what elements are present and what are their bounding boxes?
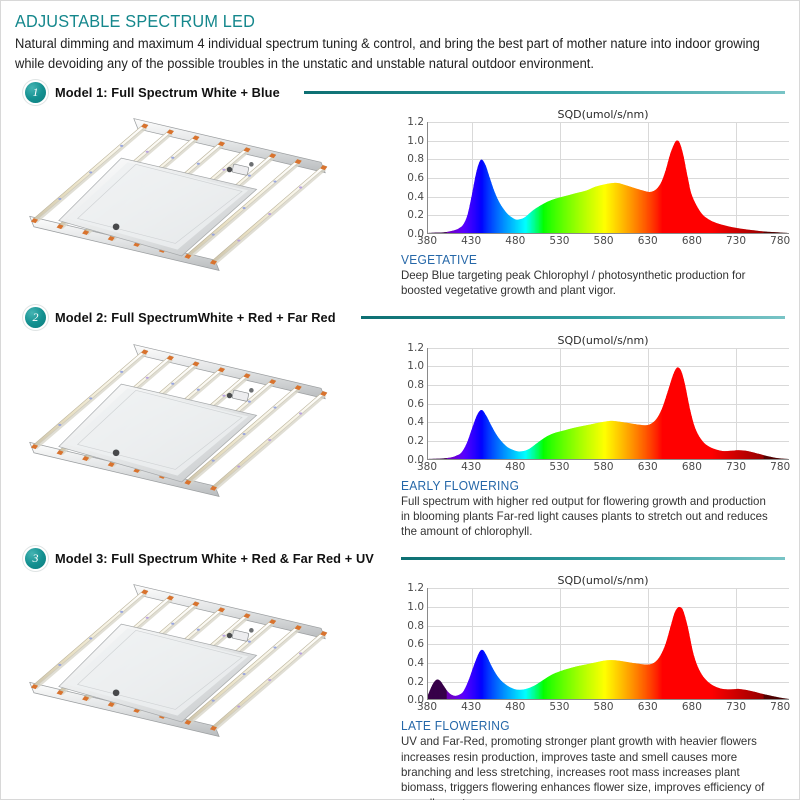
accent-rule	[361, 316, 785, 319]
model-body: SQD(umol/s/nm)0.00.20.40.60.81.01.238043…	[11, 104, 789, 299]
plot-area	[427, 122, 789, 234]
x-tick-label: 730	[726, 236, 746, 247]
y-tick-label: 0.8	[407, 621, 424, 632]
model-header: 1Model 1: Full Spectrum White + Blue	[11, 80, 789, 104]
x-tick-label: 780	[770, 236, 790, 247]
led-fixture-illustration	[11, 570, 396, 763]
x-tick-label: 380	[417, 236, 437, 247]
fixture-image	[11, 330, 396, 523]
y-tick-label: 0.6	[407, 173, 424, 184]
x-tick-label: 580	[594, 702, 614, 713]
y-tick-label: 1.0	[407, 602, 424, 613]
model-section-3: 3Model 3: Full Spectrum White + Red & Fa…	[11, 546, 789, 800]
x-tick-label: 530	[549, 236, 569, 247]
plot-row: 0.00.20.40.60.81.01.2	[399, 348, 789, 460]
x-tick-label: 430	[461, 236, 481, 247]
spectrum-curve	[428, 348, 789, 459]
led-fixture-illustration	[11, 330, 396, 523]
model-body: SQD(umol/s/nm)0.00.20.40.60.81.01.238043…	[11, 570, 789, 800]
y-tick-label: 0.2	[407, 210, 424, 221]
x-tick-label: 380	[417, 462, 437, 473]
y-tick-label: 0.2	[407, 677, 424, 688]
step-number: 3	[25, 548, 46, 569]
spectrum-chart-2: SQD(umol/s/nm)0.00.20.40.60.81.01.238043…	[396, 330, 789, 540]
chart-caption: VEGETATIVEDeep Blue targeting peak Chlor…	[399, 250, 789, 299]
y-tick-label: 0.4	[407, 658, 424, 669]
chart-caption: EARLY FLOWERINGFull spectrum with higher…	[399, 476, 789, 540]
spectrum-chart-1: SQD(umol/s/nm)0.00.20.40.60.81.01.238043…	[396, 104, 789, 299]
model-title: Model 1: Full Spectrum White + Blue	[55, 85, 280, 100]
caption-title: VEGETATIVE	[401, 253, 770, 267]
y-tick-label: 1.0	[407, 135, 424, 146]
x-tick-label: 530	[549, 702, 569, 713]
x-tick-label: 630	[638, 702, 658, 713]
chart-title: SQD(umol/s/nm)	[417, 574, 789, 587]
y-axis: 0.00.20.40.60.81.01.2	[399, 348, 427, 460]
model-section-2: 2Model 2: Full SpectrumWhite + Red + Far…	[11, 306, 789, 540]
caption-text: UV and Far-Red, promoting stronger plant…	[401, 734, 775, 800]
caption-title: LATE FLOWERING	[401, 719, 770, 733]
y-tick-label: 0.4	[407, 191, 424, 202]
plot-area	[427, 348, 789, 460]
y-tick-label: 1.2	[407, 342, 424, 353]
step-number-badge: 2	[25, 307, 46, 328]
x-tick-label: 630	[638, 236, 658, 247]
x-tick-label: 680	[682, 702, 702, 713]
x-tick-label: 480	[505, 462, 525, 473]
model-body: SQD(umol/s/nm)0.00.20.40.60.81.01.238043…	[11, 330, 789, 540]
fixture-image	[11, 104, 396, 297]
page-header: ADJUSTABLE SPECTRUM LED Natural dimming …	[11, 9, 789, 73]
step-number: 1	[25, 82, 46, 103]
x-tick-label: 430	[461, 702, 481, 713]
x-tick-label: 480	[505, 236, 525, 247]
model-title: Model 3: Full Spectrum White + Red & Far…	[55, 551, 374, 566]
caption-text: Deep Blue targeting peak Chlorophyl / ph…	[401, 268, 775, 299]
y-tick-label: 0.8	[407, 380, 424, 391]
x-tick-label: 780	[770, 702, 790, 713]
step-number-badge: 3	[25, 548, 46, 569]
model-title: Model 2: Full SpectrumWhite + Red + Far …	[55, 310, 336, 325]
x-axis: 380430480530580630680730780	[427, 234, 789, 250]
y-tick-label: 1.2	[407, 583, 424, 594]
page-title: ADJUSTABLE SPECTRUM LED	[15, 11, 733, 31]
spectrum-curve	[428, 588, 789, 699]
x-tick-label: 580	[594, 462, 614, 473]
plot-row: 0.00.20.40.60.81.01.2	[399, 122, 789, 234]
x-tick-label: 780	[770, 462, 790, 473]
x-tick-label: 480	[505, 702, 525, 713]
y-axis: 0.00.20.40.60.81.01.2	[399, 122, 427, 234]
accent-rule	[401, 557, 785, 560]
y-tick-label: 0.6	[407, 639, 424, 650]
chart-title: SQD(umol/s/nm)	[417, 108, 789, 121]
model-header: 3Model 3: Full Spectrum White + Red & Fa…	[11, 546, 789, 570]
plot-row: 0.00.20.40.60.81.01.2	[399, 588, 789, 700]
x-axis: 380430480530580630680730780	[427, 700, 789, 716]
models-container: 1Model 1: Full Spectrum White + BlueSQD(…	[11, 80, 789, 800]
page-intro: Natural dimming and maximum 4 individual…	[15, 34, 760, 73]
brochure-page: ADJUSTABLE SPECTRUM LED Natural dimming …	[0, 0, 800, 800]
spectrum-chart-3: SQD(umol/s/nm)0.00.20.40.60.81.01.238043…	[396, 570, 789, 800]
accent-rule	[304, 91, 785, 94]
led-fixture-illustration	[11, 104, 396, 297]
y-tick-label: 1.0	[407, 361, 424, 372]
x-tick-label: 630	[638, 462, 658, 473]
x-tick-label: 680	[682, 462, 702, 473]
y-tick-label: 0.2	[407, 436, 424, 447]
x-tick-label: 530	[549, 462, 569, 473]
model-header: 2Model 2: Full SpectrumWhite + Red + Far…	[11, 306, 789, 330]
y-tick-label: 0.6	[407, 398, 424, 409]
plot-area	[427, 588, 789, 700]
y-tick-label: 0.4	[407, 417, 424, 428]
x-tick-label: 730	[726, 462, 746, 473]
spectrum-curve	[428, 122, 789, 233]
x-tick-label: 380	[417, 702, 437, 713]
caption-title: EARLY FLOWERING	[401, 479, 770, 493]
step-number-badge: 1	[25, 82, 46, 103]
x-tick-label: 430	[461, 462, 481, 473]
chart-caption: LATE FLOWERINGUV and Far-Red, promoting …	[399, 716, 789, 800]
x-axis: 380430480530580630680730780	[427, 460, 789, 476]
model-section-1: 1Model 1: Full Spectrum White + BlueSQD(…	[11, 80, 789, 299]
x-tick-label: 730	[726, 702, 746, 713]
fixture-image	[11, 570, 396, 763]
caption-text: Full spectrum with higher red output for…	[401, 494, 775, 540]
y-axis: 0.00.20.40.60.81.01.2	[399, 588, 427, 700]
y-tick-label: 1.2	[407, 117, 424, 128]
x-tick-label: 580	[594, 236, 614, 247]
x-tick-label: 680	[682, 236, 702, 247]
y-tick-label: 0.8	[407, 154, 424, 165]
chart-title: SQD(umol/s/nm)	[417, 334, 789, 347]
step-number: 2	[25, 307, 46, 328]
